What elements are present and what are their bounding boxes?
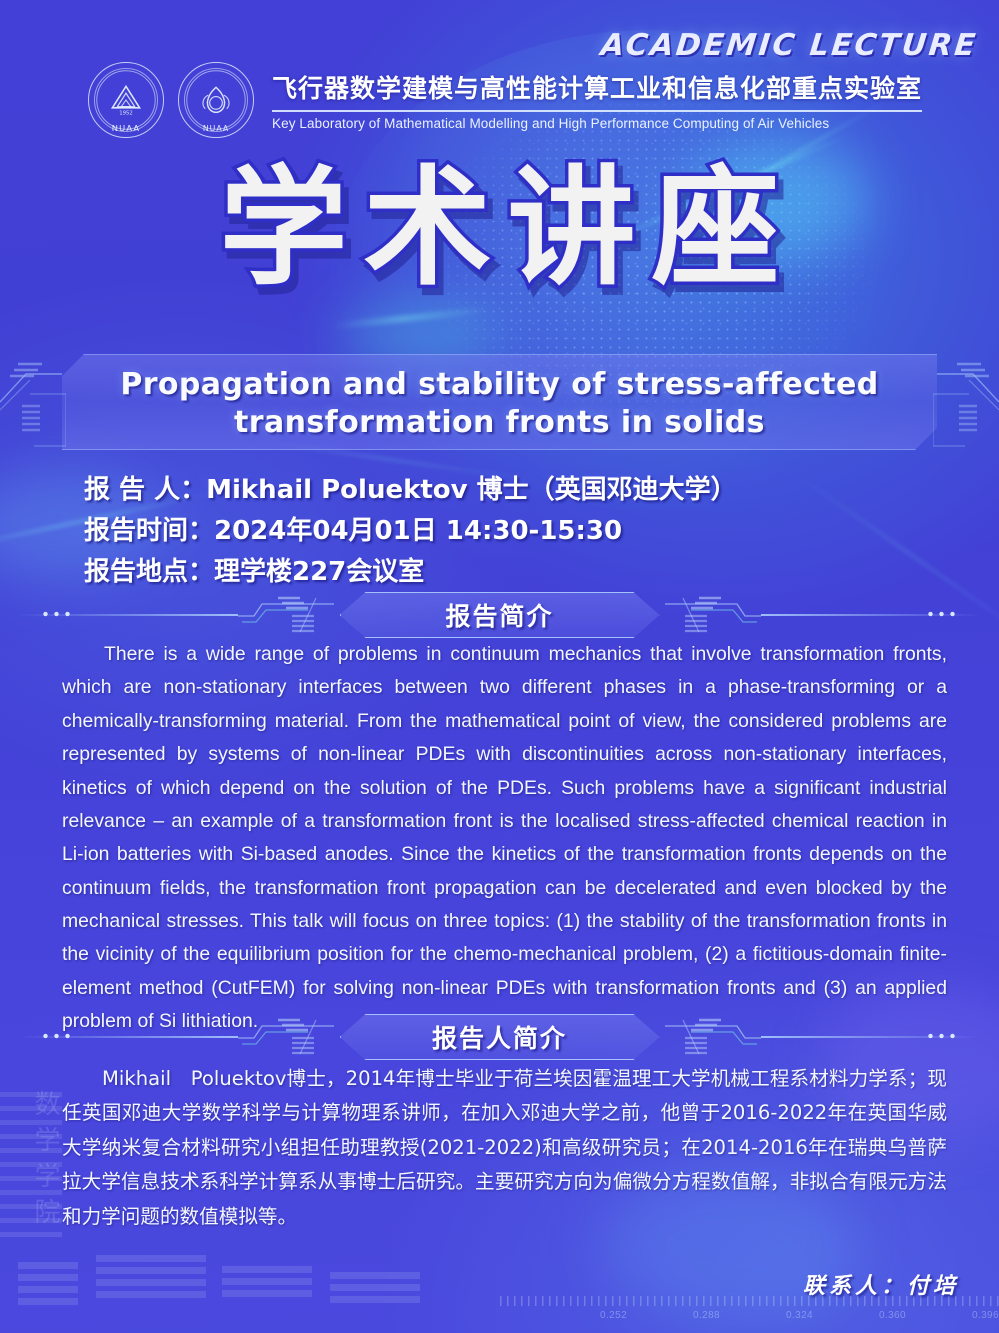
- laboratory-divider: [272, 110, 922, 112]
- section-dots-right-icon: [925, 611, 959, 617]
- section-title-abstract: 报告简介: [445, 597, 553, 633]
- lab-emblem-seal-icon: NUAA: [178, 62, 254, 138]
- section-header-abstract: 报告简介: [0, 592, 999, 638]
- lecture-info-block: 报 告 人：Mikhail Poluektov 博士（英国邓迪大学） 报告时间：…: [84, 470, 737, 593]
- footer-bar-block-2: [96, 1255, 206, 1303]
- footer-bar-block-4: [330, 1272, 420, 1308]
- info-line-datetime: 报告时间：2024年04月01日 14:30-15:30: [84, 511, 737, 552]
- tick-value: 0.396: [972, 1310, 999, 1321]
- info-line-venue: 报告地点：理学楼227会议室: [84, 552, 737, 593]
- abstract-paragraph: There is a wide range of problems in con…: [62, 638, 947, 1039]
- nuaa-university-seal-icon: 1952 NUAA: [88, 62, 164, 138]
- section-dots-left-icon: [40, 611, 74, 617]
- info-line-speaker: 报 告 人：Mikhail Poluektov 博士（英国邓迪大学）: [84, 470, 737, 511]
- svg-text:NUAA: NUAA: [203, 124, 229, 133]
- poster-main-title: 学术讲座: [0, 165, 999, 293]
- section-title-abstract-box: 报告简介: [340, 592, 660, 638]
- speaker-bio-paragraph: Mikhail Poluektov博士，2014年博士毕业于荷兰埃因霍温理工大学…: [62, 1062, 947, 1234]
- section-title-bio: 报告人简介: [432, 1019, 567, 1055]
- section-header-bio: 报告人简介: [0, 1014, 999, 1060]
- talk-title-text: Propagation and stability of stress-affe…: [0, 366, 999, 442]
- tick-value: 0.288: [693, 1310, 720, 1321]
- seal-emblem-icon: 1952 NUAA: [89, 63, 163, 137]
- footer-bar-block-1: [18, 1262, 78, 1310]
- svg-text:1952: 1952: [119, 111, 133, 117]
- laboratory-name-en: Key Laboratory of Mathematical Modelling…: [272, 116, 922, 131]
- laboratory-header: 1952 NUAA NUAA 飞行器数学建模与高性能计算工业和信息化部重点实验室…: [88, 62, 922, 138]
- tick-value: 0.360: [879, 1310, 906, 1321]
- watermark-text: 数学学院: [27, 1090, 64, 1234]
- svg-text:NUAA: NUAA: [112, 123, 140, 133]
- section-title-bio-box: 报告人简介: [340, 1014, 660, 1060]
- laboratory-name-cn: 飞行器数学建模与高性能计算工业和信息化部重点实验室: [272, 69, 922, 105]
- eyebrow-academic-lecture: ACADEMIC LECTURE: [599, 28, 979, 63]
- section-dots-right-icon: [925, 1033, 959, 1039]
- contact-person: 联系人：付培: [803, 1268, 959, 1300]
- footer-bar-block-3: [222, 1266, 312, 1302]
- section-dots-left-icon: [40, 1033, 74, 1039]
- talk-title-band: Propagation and stability of stress-affe…: [0, 354, 999, 450]
- trefoil-emblem-icon: NUAA: [179, 63, 253, 137]
- laboratory-name-block: 飞行器数学建模与高性能计算工业和信息化部重点实验室 Key Laboratory…: [268, 69, 922, 131]
- footer-tick-values: 0.252 0.288 0.324 0.360 0.396: [600, 1310, 999, 1321]
- tick-value: 0.252: [600, 1310, 627, 1321]
- tick-value: 0.324: [786, 1310, 813, 1321]
